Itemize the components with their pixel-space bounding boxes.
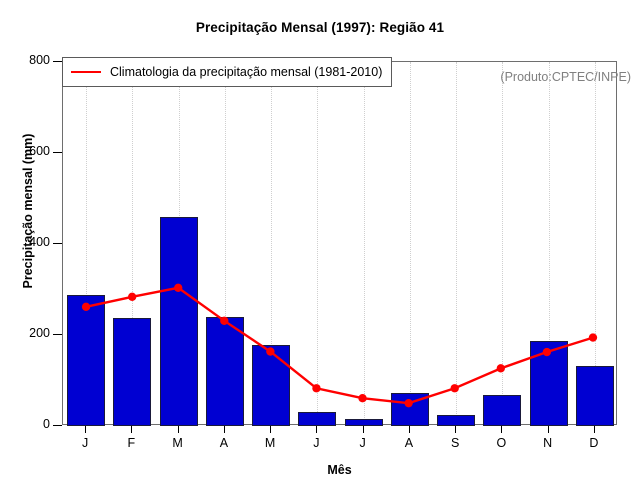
x-tick-label: J	[348, 436, 378, 450]
y-tick-mark	[53, 152, 62, 153]
x-tick-label: M	[255, 436, 285, 450]
y-tick-label: 400	[0, 236, 50, 248]
line-marker	[312, 384, 320, 392]
legend-box[interactable]: Climatologia da precipitação mensal (198…	[62, 57, 392, 87]
line-marker	[174, 284, 182, 292]
line-marker	[220, 317, 228, 325]
y-tick-label: 200	[0, 327, 50, 339]
x-tick-mark	[409, 425, 410, 433]
x-axis-label: Mês	[62, 463, 617, 477]
line-marker	[543, 348, 551, 356]
x-tick-mark	[363, 425, 364, 433]
x-tick-mark	[501, 425, 502, 433]
line-marker	[497, 364, 505, 372]
x-tick-label: A	[394, 436, 424, 450]
line-marker	[266, 347, 274, 355]
plot-area	[62, 61, 617, 425]
y-tick-label: 800	[0, 54, 50, 66]
line-marker	[451, 384, 459, 392]
x-tick-label: M	[163, 436, 193, 450]
x-tick-label: J	[70, 436, 100, 450]
x-tick-label: N	[533, 436, 563, 450]
legend-line-swatch-icon	[71, 71, 101, 73]
line-marker	[82, 303, 90, 311]
product-annotation: (Produto:CPTEC/INPE)	[500, 70, 631, 84]
x-tick-mark	[316, 425, 317, 433]
y-tick-label: 0	[0, 418, 50, 430]
page-title: Precipitação Mensal (1997): Região 41	[0, 20, 640, 35]
x-tick-label: S	[440, 436, 470, 450]
x-tick-mark	[131, 425, 132, 433]
precipitation-chart-figure: Precipitação Mensal (1997): Região 41 Pr…	[0, 0, 640, 500]
x-tick-mark	[270, 425, 271, 433]
climatology-markers	[82, 284, 597, 408]
line-marker	[128, 293, 136, 301]
x-tick-mark	[224, 425, 225, 433]
x-tick-label: F	[116, 436, 146, 450]
line-marker	[358, 394, 366, 402]
x-tick-mark	[594, 425, 595, 433]
x-tick-mark	[455, 425, 456, 433]
y-tick-label: 600	[0, 145, 50, 157]
x-tick-label: O	[486, 436, 516, 450]
line-marker	[589, 333, 597, 341]
y-tick-mark	[53, 243, 62, 244]
climatology-line-series	[63, 62, 616, 424]
x-tick-label: J	[301, 436, 331, 450]
y-tick-mark	[53, 61, 62, 62]
line-marker	[404, 399, 412, 407]
climatology-polyline	[86, 288, 593, 403]
x-tick-mark	[85, 425, 86, 433]
x-tick-label: A	[209, 436, 239, 450]
y-tick-mark	[53, 334, 62, 335]
x-tick-label: D	[579, 436, 609, 450]
plot-inner	[63, 62, 616, 424]
x-tick-mark	[178, 425, 179, 433]
y-tick-mark	[53, 425, 62, 426]
legend-item-label: Climatologia da precipitação mensal (198…	[110, 65, 382, 79]
x-tick-mark	[548, 425, 549, 433]
